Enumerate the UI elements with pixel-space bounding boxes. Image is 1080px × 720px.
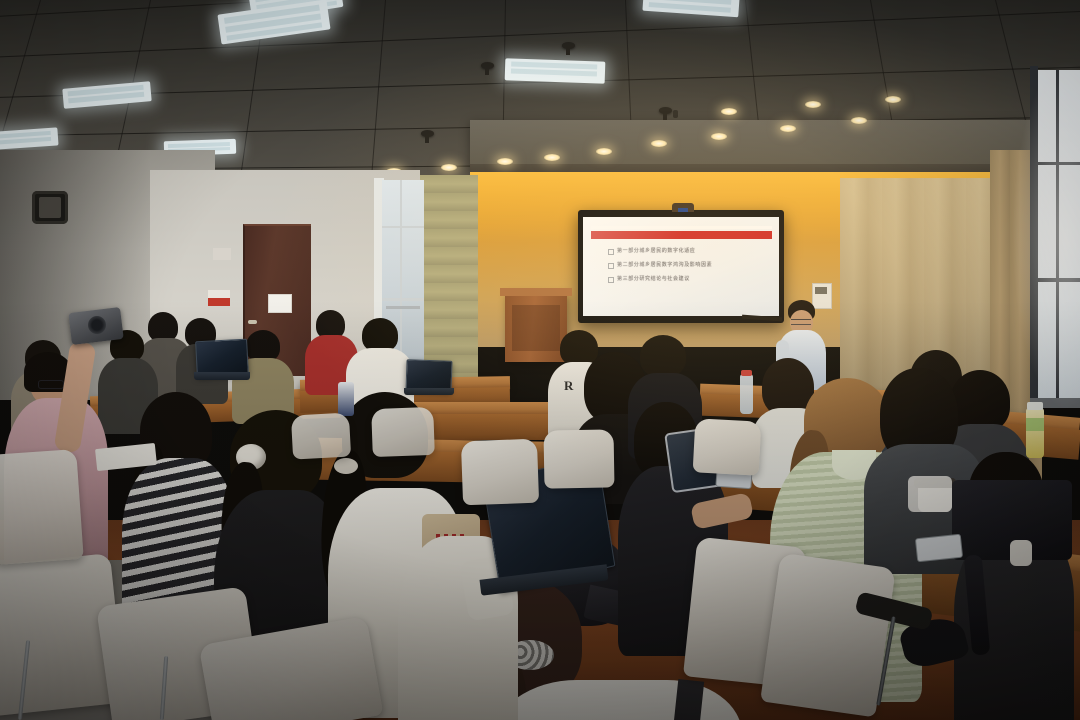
downlight-icon [805,101,821,108]
downlight-icon [596,148,612,155]
chair[interactable] [0,449,84,565]
bag-charm [1010,540,1032,566]
chair[interactable] [371,407,435,457]
camera-lens-icon [88,316,106,334]
laptop-keyboard[interactable] [194,372,250,380]
lectern-top [500,288,572,296]
lecture-hall-photo: 第一部分城乡居民的数字化适应 第二部分城乡居民数字鸿沟及影响因素 第三部分研究结… [0,0,1080,720]
thermos-bottle[interactable] [338,382,354,416]
door-notice-sign [268,294,292,313]
smartphone[interactable] [915,534,963,563]
chair[interactable] [291,413,351,460]
laptop-keyboard[interactable] [404,388,454,395]
downlight-icon [441,164,457,171]
downlight-icon [651,140,667,147]
wood-column-mid [420,175,478,390]
downlight-icon [885,96,901,103]
screen-glare [583,217,779,316]
glasses-icon [38,380,64,389]
downlight-icon [851,117,867,124]
hair [950,370,1010,432]
downlight-icon [721,108,737,115]
glasses-icon [791,319,811,325]
wall-clock-face [39,197,61,218]
tissue [908,476,952,512]
downlight-icon [544,154,560,161]
wall-notice [213,248,231,260]
downlight-icon [711,133,727,140]
downlight-icon [497,158,513,165]
beverage-bottle[interactable] [1026,408,1044,458]
window-right-glow [1012,60,1080,410]
hair-tie [334,458,358,474]
bottle-label [1026,418,1044,431]
hair [640,335,686,377]
lectern-front-panel [512,305,560,351]
wall-sign-red-band [208,298,230,306]
chair[interactable] [760,553,896,718]
wall-control-panel-screen [815,287,827,294]
water-bottle[interactable] [740,374,753,414]
chair[interactable] [693,418,762,475]
tshirt-print: R [564,378,576,394]
bottle-cap-icon [1027,402,1043,410]
chair[interactable] [461,439,539,506]
bottle-cap-icon [741,370,752,376]
downlight-icon [780,125,796,132]
chair[interactable] [543,429,614,488]
door-handle[interactable] [248,320,257,324]
camera-led-icon [678,208,688,212]
hair [362,318,398,352]
